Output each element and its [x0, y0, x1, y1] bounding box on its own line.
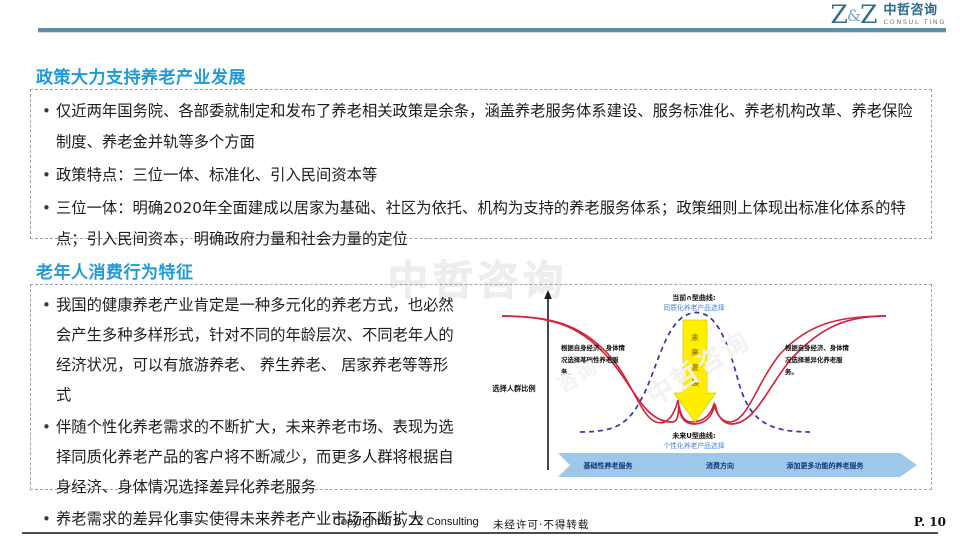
chart-annotation-bottom-title: 未来U型曲线:: [672, 431, 716, 440]
logo-name-cn: 中哲咨询: [884, 4, 946, 17]
list-item: • 伴随个性化养老需求的不断扩大，未来养老市场、表现为选择同质化养老产品的客户将…: [42, 412, 462, 502]
chart-annotation-top-sub: 同质化养老产品选择: [663, 303, 724, 312]
chart-annotation-left: 根据自身经济、身体情 况选择基础性养老服 务。: [561, 343, 626, 376]
page-number: P. 10: [914, 515, 946, 529]
copyright-text: Copyright © By ZZ Consulting: [333, 516, 479, 528]
list-item: • 政策特点：三位一体、标准化、引入民间资本等: [42, 160, 922, 191]
arrow-label-char-4: 展: [690, 378, 699, 387]
slide: Z&Z 中哲咨询 CONSUL TING 中哲咨询 政策大力支持养老产业发展 •…: [0, 0, 960, 540]
footer-divider: [22, 532, 938, 534]
chart-annotation-top-title: 当前∩型曲线:: [672, 293, 716, 302]
bullet-dot-icon: •: [42, 193, 56, 224]
chart-annotation-right: 根据自身经济、身体情 况选择差异化养老服 务。: [785, 343, 850, 376]
y-axis: [544, 290, 552, 470]
x-axis-direction-bar: 基础性养老服务 消费方向 添加更多功能的养老服务: [558, 453, 917, 477]
y-axis-label: 选择人群比例: [492, 384, 535, 393]
chart-annotation-bottom-sub: 个性化养老产品选择: [663, 441, 724, 450]
bullet-list-behavior: • 我国的健康养老产业肯定是一种多元化的养老方式，也必然会产生多种多样形式，针对…: [42, 290, 462, 537]
list-item: • 仅近两年国务院、各部委就制定和发布了养老相关政策是余条，涵盖养老服务体系建设…: [42, 96, 922, 158]
future-development-arrow: 未 来 发 展: [674, 320, 716, 422]
logo-mark: Z&Z: [831, 2, 877, 27]
svg-text:务。: 务。: [785, 367, 798, 376]
consumption-curve-diagram: 选择人群比例 当前∩型曲线: 同质化养老产品选择 未 来 发 展 未来U型曲线:…: [480, 288, 928, 484]
arrow-label-char-3: 发: [690, 362, 699, 372]
section-title-behavior: 老年人消费行为特征: [36, 258, 194, 283]
bullet-dot-icon: •: [42, 160, 56, 191]
bullet-dot-icon: •: [42, 504, 56, 535]
bullet-dot-icon: •: [42, 96, 56, 127]
bullet-text: 政策特点：三位一体、标准化、引入民间资本等: [56, 160, 377, 191]
arrow-label-char-1: 未: [691, 332, 699, 342]
bullet-dot-icon: •: [42, 290, 56, 321]
axis-bar-segment-2: 消费方向: [706, 461, 734, 470]
bullet-text: 伴随个性化养老需求的不断扩大，未来养老市场、表现为选择同质化养老产品的客户将不断…: [56, 412, 462, 502]
logo-text: 中哲咨询 CONSUL TING: [884, 4, 946, 26]
svg-text:根据自身经济、身体情: 根据自身经济、身体情: [785, 343, 850, 352]
company-logo: Z&Z 中哲咨询 CONSUL TING: [831, 2, 946, 27]
svg-text:况选择基础性养老服: 况选择基础性养老服: [561, 355, 619, 364]
svg-text:根据自身经济、身体情: 根据自身经济、身体情: [561, 343, 626, 352]
bullet-dot-icon: •: [42, 412, 56, 443]
svg-text:况选择差异化养老服: 况选择差异化养老服: [785, 355, 843, 364]
bullet-text: 仅近两年国务院、各部委就制定和发布了养老相关政策是余条，涵盖养老服务体系建设、服…: [56, 96, 922, 158]
logo-name-en: CONSUL TING: [884, 19, 946, 26]
list-item: • 三位一体：明确2020年全面建成以居家为基础、社区为依托、机构为支持的养老服…: [42, 193, 922, 255]
svg-text:务。: 务。: [561, 367, 574, 376]
no-reprint-text: 未经许可·不得转载: [493, 517, 589, 532]
section-title-policy: 政策大力支持养老产业发展: [36, 63, 246, 88]
arrow-label-char-2: 来: [690, 347, 699, 357]
axis-bar-segment-3: 添加更多功能的养老服务: [787, 461, 865, 470]
bullet-text: 三位一体：明确2020年全面建成以居家为基础、社区为依托、机构为支持的养老服务体…: [56, 193, 922, 255]
header-divider-thin: [38, 32, 946, 33]
bullet-text: 我国的健康养老产业肯定是一种多元化的养老方式，也必然会产生多种多样形式，针对不同…: [56, 290, 462, 410]
bullet-list-policy: • 仅近两年国务院、各部委就制定和发布了养老相关政策是余条，涵盖养老服务体系建设…: [42, 96, 922, 257]
axis-bar-segment-1: 基础性养老服务: [583, 461, 634, 470]
list-item: • 我国的健康养老产业肯定是一种多元化的养老方式，也必然会产生多种多样形式，针对…: [42, 290, 462, 410]
